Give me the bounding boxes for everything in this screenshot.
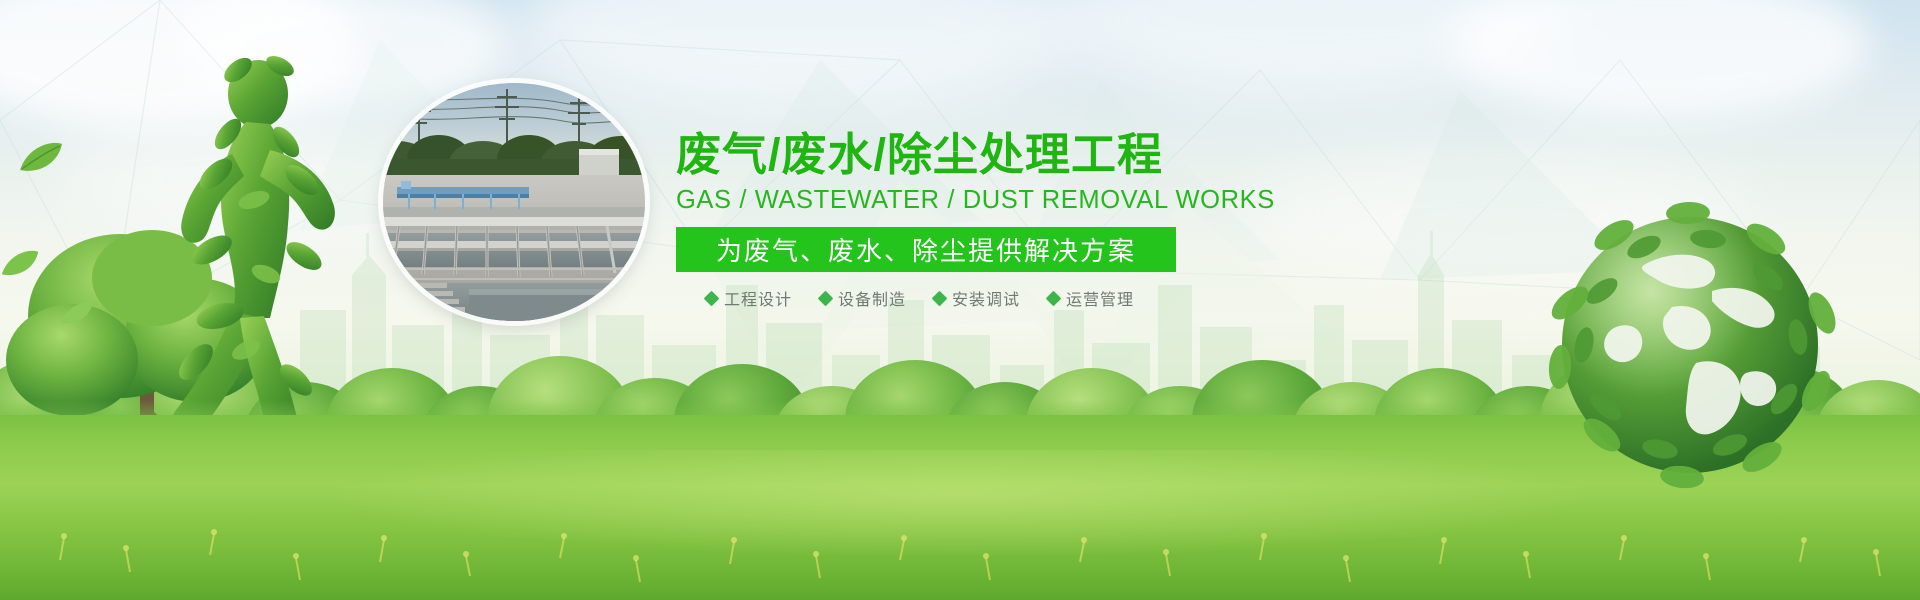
slogan-text: 为废气、废水、除尘提供解决方案 bbox=[716, 231, 1136, 268]
diamond-icon bbox=[932, 290, 948, 306]
green-leaf-globe bbox=[1540, 195, 1840, 495]
feature-label: 安装调试 bbox=[952, 286, 1020, 310]
floating-leaf-icon bbox=[18, 140, 64, 174]
diamond-icon bbox=[1046, 290, 1062, 306]
feature-item-operation-management[interactable]: 运营管理 bbox=[1048, 286, 1134, 310]
page-title: 废气/废水/除尘处理工程 bbox=[676, 128, 1196, 182]
feature-list: 工程设计 设备制造 安装调试 运营管理 bbox=[676, 286, 1196, 310]
diamond-icon bbox=[704, 290, 720, 306]
headline-block: 废气/废水/除尘处理工程 GAS / WASTEWATER / DUST REM… bbox=[676, 128, 1196, 310]
feature-label: 运营管理 bbox=[1066, 286, 1134, 310]
feature-item-installation-commissioning[interactable]: 安装调试 bbox=[934, 286, 1020, 310]
page-subtitle-en: GAS / WASTEWATER / DUST REMOVAL WORKS bbox=[676, 184, 1196, 216]
feature-label: 设备制造 bbox=[838, 286, 906, 310]
feature-item-equipment-manufacturing[interactable]: 设备制造 bbox=[820, 286, 906, 310]
floating-leaf-icon bbox=[60, 300, 94, 326]
feature-label: 工程设计 bbox=[724, 286, 792, 310]
diamond-icon bbox=[818, 290, 834, 306]
slogan-bar: 为废气、废水、除尘提供解决方案 bbox=[676, 227, 1176, 272]
eco-engineering-banner: 废气/废水/除尘处理工程 GAS / WASTEWATER / DUST REM… bbox=[0, 0, 1920, 600]
floating-leaf-icon bbox=[0, 248, 40, 278]
feature-item-engineering-design[interactable]: 工程设计 bbox=[706, 286, 792, 310]
wastewater-treatment-plant-photo bbox=[383, 83, 645, 321]
